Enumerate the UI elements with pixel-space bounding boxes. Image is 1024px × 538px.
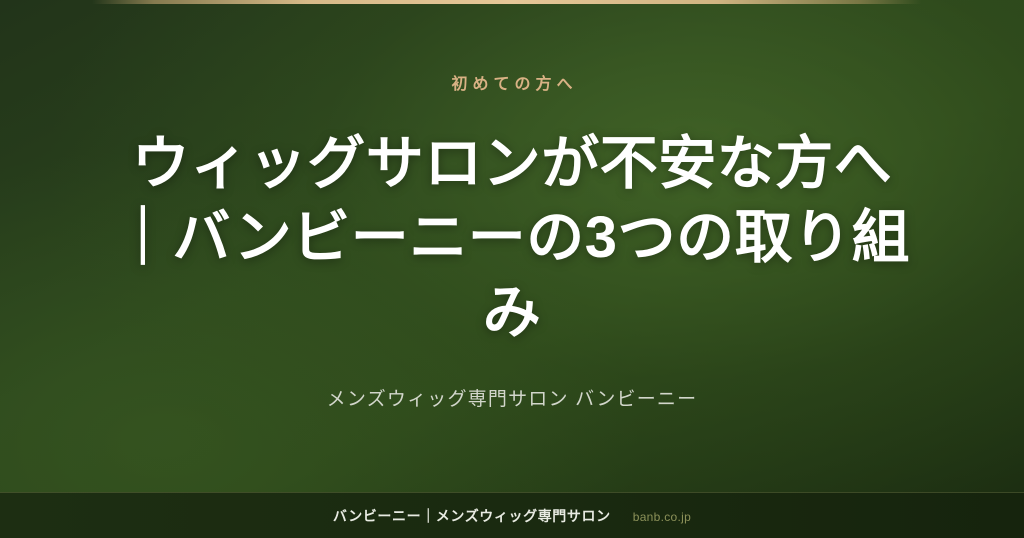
footer-brand-label: バンビーニー｜メンズウィッグ専門サロン (333, 506, 611, 526)
footer-bar: バンビーニー｜メンズウィッグ専門サロン banb.co.jp (0, 492, 1024, 538)
footer-domain-label: banb.co.jp (633, 510, 691, 524)
card-content: 初めての方へ ウィッグサロンが不安な方へ｜バンビーニーの3つの取り組み メンズウ… (0, 0, 1024, 492)
footer-content: バンビーニー｜メンズウィッグ専門サロン banb.co.jp (333, 506, 691, 526)
share-card: 初めての方へ ウィッグサロンが不安な方へ｜バンビーニーの3つの取り組み メンズウ… (0, 0, 1024, 538)
eyebrow-label: 初めての方へ (446, 77, 577, 93)
subtitle-text: メンズウィッグ専門サロン バンビーニー (327, 390, 698, 409)
page-title: ウィッグサロンが不安な方へ｜バンビーニーの3つの取り組み (104, 127, 920, 350)
